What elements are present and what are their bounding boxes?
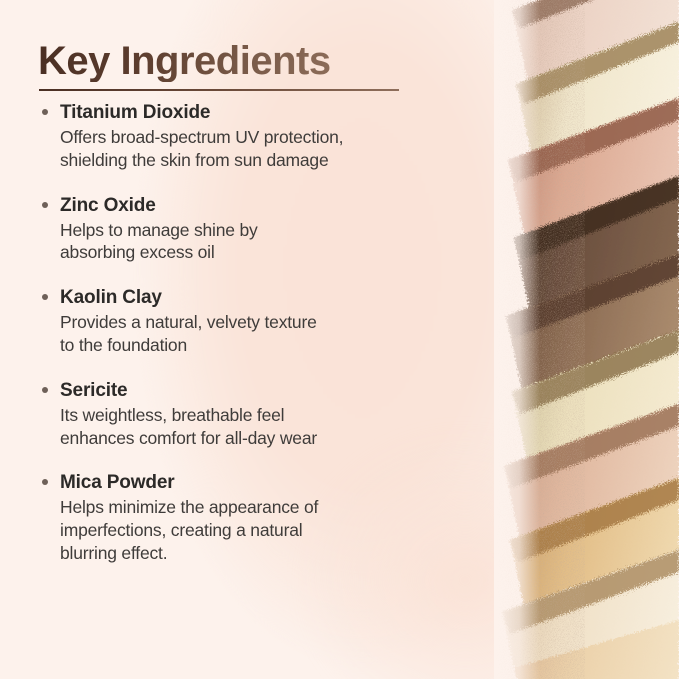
bullet-icon (42, 387, 48, 393)
bullet-icon (42, 202, 48, 208)
ingredients-list: Titanium Dioxide Offers broad-spectrum U… (38, 100, 470, 565)
list-item: Zinc Oxide Helps to manage shine by abso… (38, 193, 470, 265)
list-item: Mica Powder Helps minimize the appearanc… (38, 470, 470, 564)
ingredient-name: Mica Powder (60, 470, 470, 495)
page-title-wrapper: Key Ingredients (38, 40, 400, 82)
page-title: Key Ingredients (38, 40, 400, 82)
ingredient-description: Its weightless, breathable feel enhances… (60, 404, 470, 450)
bullet-icon (42, 479, 48, 485)
ingredient-description: Offers broad-spectrum UV protection, shi… (60, 126, 470, 172)
ingredient-name: Titanium Dioxide (60, 100, 470, 125)
ingredient-description: Helps to manage shine by absorbing exces… (60, 219, 470, 265)
ingredient-name: Sericite (60, 378, 470, 403)
ingredient-name: Kaolin Clay (60, 285, 470, 310)
list-item: Kaolin Clay Provides a natural, velvety … (38, 285, 470, 357)
ingredient-description: Helps minimize the appearance of imperfe… (60, 496, 470, 564)
bullet-icon (42, 109, 48, 115)
cosmetic-powder-swatches-image (494, 0, 679, 679)
bullet-icon (42, 294, 48, 300)
content-column: Key Ingredients Titanium Dioxide Offers … (0, 0, 470, 679)
ingredient-description: Provides a natural, velvety texture to t… (60, 311, 470, 357)
list-item: Sericite Its weightless, breathable feel… (38, 378, 470, 450)
ingredients-infographic: Key Ingredients Titanium Dioxide Offers … (0, 0, 679, 679)
list-item: Titanium Dioxide Offers broad-spectrum U… (38, 100, 470, 172)
title-underline (39, 89, 399, 91)
ingredient-name: Zinc Oxide (60, 193, 470, 218)
